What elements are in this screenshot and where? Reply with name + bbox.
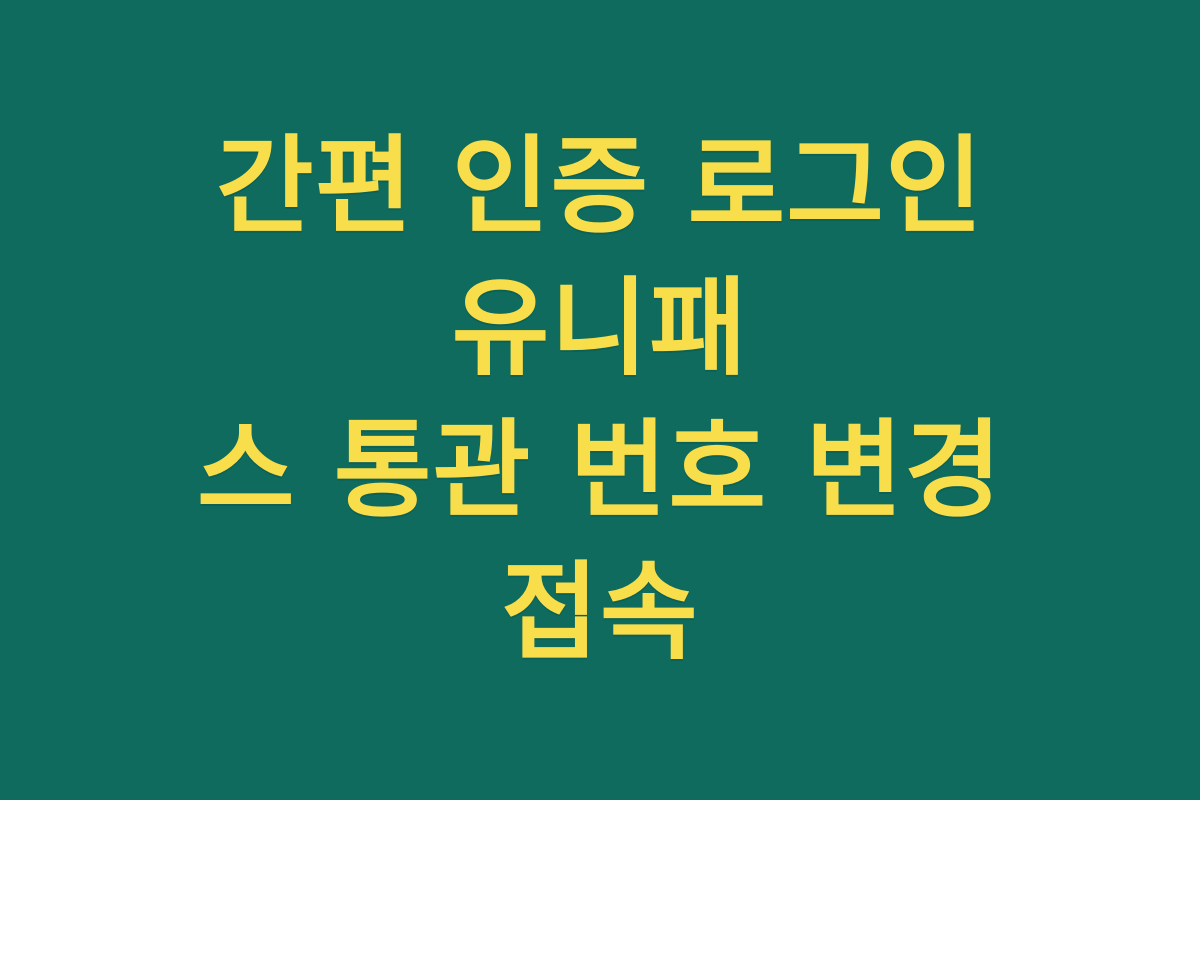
headline-line-1: 간편 인증 로그인 유니패 — [80, 116, 1120, 400]
page-title: 간편 인증 로그인 유니패스 통관 번호 변경 접속 — [80, 0, 1120, 968]
headline-line-2: 스 통관 번호 변경 접속 — [80, 400, 1120, 684]
banner-canvas: 간편 인증 로그인 유니패스 통관 번호 변경 접속 — [0, 0, 1200, 800]
